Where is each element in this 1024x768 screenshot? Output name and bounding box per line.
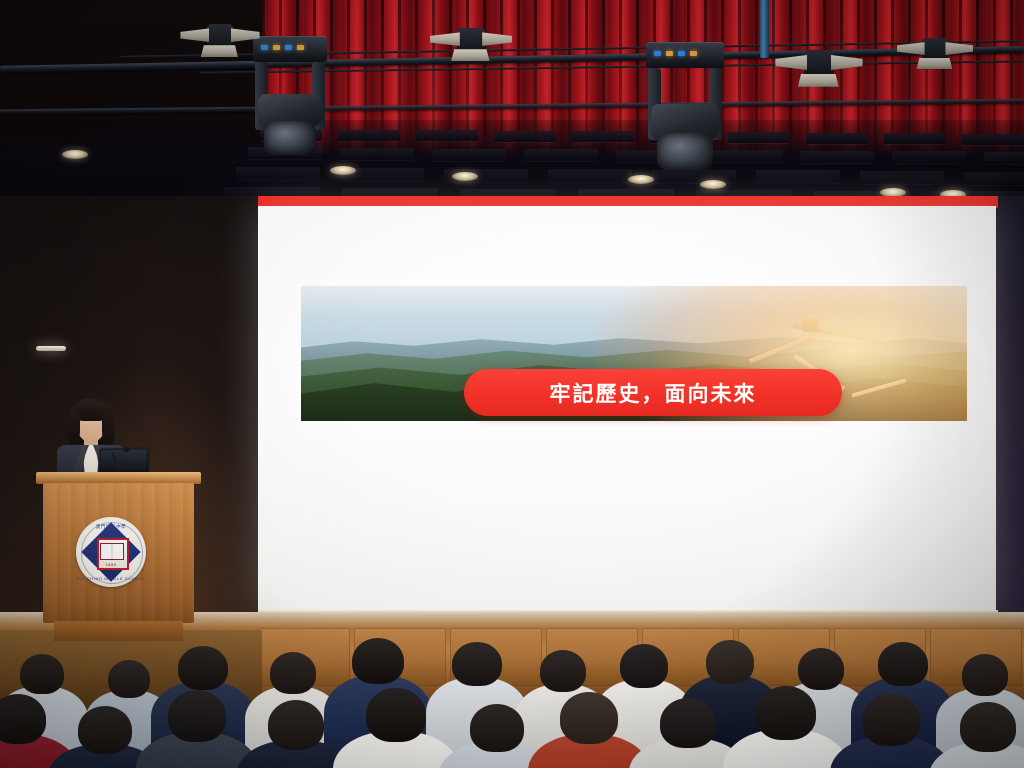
- barn-door-light: [786, 48, 852, 92]
- audience-member-head: [268, 700, 324, 750]
- audience-member-head: [960, 702, 1016, 752]
- wall-strip-light-icon: [36, 346, 66, 351]
- ceiling-slat: [756, 170, 840, 183]
- school-emblem: 澳門培正中學 1889 PUI CHING MIDDLE SCHOOL: [76, 517, 146, 587]
- ceiling-slat: [432, 149, 506, 161]
- audience-member-head: [470, 704, 524, 752]
- auditorium-scene: 牢記歷史，面向未來 澳門培正中學 1889: [0, 0, 1024, 768]
- fixture-led-icon: [261, 45, 268, 50]
- fixture-led-icon: [690, 51, 697, 56]
- audience-member-head: [270, 652, 316, 694]
- ceiling-slat: [962, 134, 1024, 145]
- audience: [0, 620, 1024, 768]
- ceiling-slat: [572, 131, 634, 142]
- barn-door-flap-bottom: [916, 58, 952, 69]
- ceiling-slat: [416, 130, 478, 141]
- audience-member-head: [878, 642, 928, 686]
- ceiling-slat: [964, 172, 1024, 185]
- ceiling-slat: [800, 151, 874, 163]
- audience-member-head: [352, 638, 404, 684]
- audience-member-head: [962, 654, 1008, 696]
- audience-member-head: [20, 654, 64, 694]
- ceiling-slat: [236, 167, 320, 180]
- ceiling-slat: [884, 133, 946, 144]
- ceiling-can-light-icon: [62, 150, 88, 159]
- moving-head-light: [253, 36, 327, 148]
- ceiling-can-light-icon: [330, 166, 356, 175]
- fixture-led-icon: [297, 45, 304, 50]
- ceiling-slat: [728, 132, 790, 143]
- fixture-led-icon: [666, 51, 673, 56]
- presenter-hair-right: [102, 412, 115, 448]
- podium-microphone-head: [123, 447, 130, 452]
- moving-head-light: [646, 42, 724, 158]
- ceiling-slat: [984, 152, 1024, 164]
- fixture-led-icon: [654, 51, 661, 56]
- right-side-wall: [995, 196, 1024, 636]
- laptop-screen: [101, 450, 146, 471]
- audience-member-head: [540, 650, 586, 692]
- audience-member-head: [366, 688, 426, 742]
- audience-member-head: [108, 660, 150, 698]
- ceiling-slat: [860, 171, 944, 184]
- audience-member-head: [660, 698, 716, 748]
- audience-member-head: [78, 706, 132, 754]
- fixture-led-icon: [273, 45, 280, 50]
- ceiling-slat: [524, 149, 598, 161]
- rig-drop-pipe: [760, 0, 769, 58]
- audience-member-head: [560, 692, 618, 744]
- audience-member-head: [706, 640, 754, 684]
- audience-member-head: [798, 648, 844, 690]
- ceiling-slat: [892, 151, 966, 163]
- emblem-year-text: 1889: [76, 562, 146, 567]
- presenter-hair-left: [67, 412, 80, 448]
- audience-member-head: [452, 642, 502, 686]
- barn-door-flap-bottom: [451, 49, 489, 61]
- ceiling-can-light-icon: [452, 172, 478, 181]
- audience-member-head: [178, 646, 228, 690]
- ceiling-slat: [340, 148, 414, 160]
- moving-head-lens: [657, 133, 713, 170]
- slide-banner-text: 牢記歷史，面向未來: [550, 378, 757, 408]
- ceiling-slat: [548, 169, 632, 182]
- ceiling-slat: [338, 130, 400, 141]
- emblem-book-icon: [100, 543, 124, 560]
- barn-door-light: [190, 22, 250, 62]
- audience-member-head: [862, 694, 920, 746]
- barn-door-light: [906, 36, 964, 74]
- barn-door-flap-bottom: [201, 45, 238, 57]
- fixture-led-icon: [678, 51, 685, 56]
- moving-head-lens: [264, 121, 316, 155]
- fixture-led-icon: [285, 45, 292, 50]
- ceiling-can-light-icon: [628, 175, 654, 184]
- audience-member-head: [168, 690, 226, 742]
- projection-screen: 牢記歷史，面向未來: [258, 206, 996, 612]
- slide-banner: 牢記歷史，面向未來: [464, 369, 842, 416]
- ceiling-slat: [494, 131, 556, 142]
- barn-door-flap-bottom: [798, 74, 839, 87]
- barn-door-light: [440, 26, 502, 66]
- ceiling-slat: [806, 133, 868, 144]
- emblem-arc-bottom-text: PUI CHING MIDDLE SCHOOL: [76, 576, 146, 581]
- audience-member-head: [620, 644, 668, 688]
- ceiling-can-light-icon: [700, 180, 726, 189]
- audience-member-head: [756, 686, 816, 740]
